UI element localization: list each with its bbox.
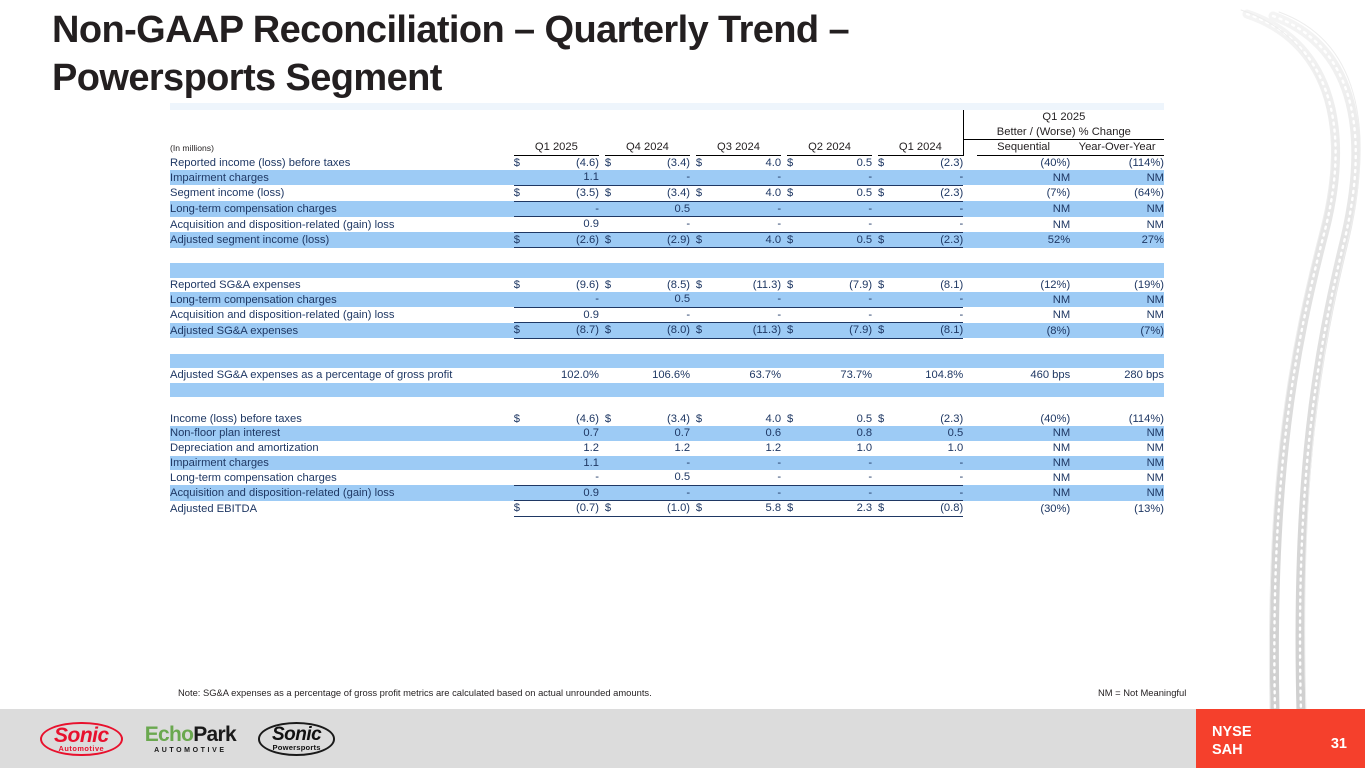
row-value: - bbox=[623, 456, 690, 471]
col-header-q1-2024: Q1 2024 bbox=[878, 140, 963, 156]
group-separator bbox=[963, 170, 977, 185]
row-value: - bbox=[805, 170, 872, 185]
currency-symbol: $ bbox=[605, 185, 623, 201]
currency-symbol bbox=[605, 456, 623, 471]
currency-symbol bbox=[787, 383, 805, 398]
row-sequential-change: NM bbox=[977, 170, 1070, 185]
sonic-powersports-logo: Sonic Powersports bbox=[258, 722, 335, 756]
row-value: - bbox=[896, 456, 963, 471]
row-value: 5.8 bbox=[714, 501, 781, 517]
group-separator bbox=[963, 470, 977, 485]
currency-symbol: $ bbox=[878, 232, 896, 248]
group-separator bbox=[963, 354, 977, 369]
change-group-title: Better / (Worse) % Change bbox=[963, 125, 1164, 140]
row-value: 1.0 bbox=[805, 441, 872, 456]
table-spacer-row bbox=[170, 248, 1164, 263]
row-value: - bbox=[714, 292, 781, 307]
row-label: Income (loss) before taxes bbox=[170, 412, 514, 427]
row-year-over-year-change: (7%) bbox=[1070, 323, 1164, 339]
row-sequential-change: (30%) bbox=[977, 501, 1070, 517]
row-label: Segment income (loss) bbox=[170, 185, 514, 201]
exchange-name: NYSE bbox=[1212, 723, 1252, 741]
table-row: Acquisition and disposition-related (gai… bbox=[170, 307, 1164, 323]
currency-symbol bbox=[696, 383, 714, 398]
currency-symbol: $ bbox=[605, 501, 623, 517]
row-value: 0.5 bbox=[805, 412, 872, 427]
row-value: (2.3) bbox=[896, 232, 963, 248]
row-value: (11.3) bbox=[714, 323, 781, 339]
page-title: Non-GAAP Reconciliation – Quarterly Tren… bbox=[52, 6, 1012, 103]
table-row: Long-term compensation charges-0.5---NMN… bbox=[170, 201, 1164, 217]
row-value bbox=[805, 248, 872, 263]
row-year-over-year-change: NM bbox=[1070, 441, 1164, 456]
row-value: (8.1) bbox=[896, 323, 963, 339]
currency-symbol: $ bbox=[878, 501, 896, 517]
row-value: (9.6) bbox=[532, 278, 599, 293]
row-value: 0.6 bbox=[714, 426, 781, 441]
currency-symbol bbox=[514, 354, 532, 369]
group-separator bbox=[963, 155, 977, 170]
row-value: (2.3) bbox=[896, 185, 963, 201]
header-top-band bbox=[170, 103, 1164, 110]
group-separator bbox=[963, 248, 977, 263]
currency-symbol bbox=[787, 456, 805, 471]
currency-symbol bbox=[514, 292, 532, 307]
currency-symbol bbox=[787, 368, 805, 383]
row-year-over-year-change: NM bbox=[1070, 170, 1164, 185]
currency-symbol: $ bbox=[696, 232, 714, 248]
currency-symbol bbox=[514, 470, 532, 485]
row-value: - bbox=[714, 307, 781, 323]
row-value: (3.4) bbox=[623, 412, 690, 427]
row-sequential-change: NM bbox=[977, 307, 1070, 323]
row-value: (7.9) bbox=[805, 278, 872, 293]
tire-tracks-decoration bbox=[1175, 0, 1365, 712]
row-label bbox=[170, 248, 514, 263]
row-value: - bbox=[805, 217, 872, 233]
currency-symbol bbox=[878, 426, 896, 441]
currency-symbol bbox=[605, 368, 623, 383]
currency-symbol bbox=[696, 441, 714, 456]
row-sequential-change: NM bbox=[977, 217, 1070, 233]
row-value bbox=[805, 397, 872, 412]
currency-symbol bbox=[605, 354, 623, 369]
table-body: Reported income (loss) before taxes$(4.6… bbox=[170, 155, 1164, 516]
currency-symbol bbox=[696, 217, 714, 233]
echopark-subtext: AUTOMOTIVE bbox=[154, 747, 227, 754]
currency-symbol bbox=[878, 263, 896, 278]
row-year-over-year-change: (114%) bbox=[1070, 155, 1164, 170]
row-year-over-year-change: (13%) bbox=[1070, 501, 1164, 517]
row-value bbox=[532, 263, 599, 278]
row-value bbox=[714, 263, 781, 278]
group-separator bbox=[963, 263, 977, 278]
currency-symbol bbox=[514, 368, 532, 383]
row-label: Adjusted SG&A expenses bbox=[170, 323, 514, 339]
row-year-over-year-change: 27% bbox=[1070, 232, 1164, 248]
currency-symbol bbox=[696, 485, 714, 501]
currency-symbol bbox=[787, 441, 805, 456]
currency-symbol: $ bbox=[787, 412, 805, 427]
row-year-over-year-change bbox=[1070, 248, 1164, 263]
currency-symbol bbox=[514, 217, 532, 233]
row-value: 0.7 bbox=[623, 426, 690, 441]
row-value bbox=[896, 248, 963, 263]
table-spacer-row bbox=[170, 338, 1164, 353]
table-row: Impairment charges1.1----NMNM bbox=[170, 170, 1164, 185]
row-value: 4.0 bbox=[714, 232, 781, 248]
currency-symbol: $ bbox=[696, 155, 714, 170]
currency-symbol: $ bbox=[696, 278, 714, 293]
table-spacer-row bbox=[170, 263, 1164, 278]
currency-symbol bbox=[605, 217, 623, 233]
row-year-over-year-change: NM bbox=[1070, 485, 1164, 501]
footnote-right: NM = Not Meaningful bbox=[1098, 687, 1186, 698]
row-sequential-change: 460 bps bbox=[977, 368, 1070, 383]
currency-symbol bbox=[514, 248, 532, 263]
row-value: (4.6) bbox=[532, 412, 599, 427]
row-sequential-change: (7%) bbox=[977, 185, 1070, 201]
row-label bbox=[170, 354, 514, 369]
row-value: 106.6% bbox=[623, 368, 690, 383]
row-sequential-change bbox=[977, 397, 1070, 412]
row-value: - bbox=[714, 201, 781, 217]
currency-symbol bbox=[605, 383, 623, 398]
currency-symbol bbox=[696, 201, 714, 217]
row-value: 0.5 bbox=[896, 426, 963, 441]
row-year-over-year-change: NM bbox=[1070, 456, 1164, 471]
units-label: (In millions) bbox=[170, 140, 514, 156]
col-header-q2-2024: Q2 2024 bbox=[787, 140, 872, 156]
currency-symbol: $ bbox=[696, 501, 714, 517]
row-value: - bbox=[896, 485, 963, 501]
group-separator bbox=[963, 201, 977, 217]
row-value: - bbox=[805, 292, 872, 307]
row-value: - bbox=[623, 170, 690, 185]
currency-symbol bbox=[605, 201, 623, 217]
table-header: Q1 2025 Better / (Worse) % Change (In mi… bbox=[170, 103, 1164, 155]
row-value: - bbox=[896, 170, 963, 185]
row-label: Acquisition and disposition-related (gai… bbox=[170, 485, 514, 501]
row-value bbox=[532, 248, 599, 263]
row-value: 0.5 bbox=[805, 232, 872, 248]
currency-symbol bbox=[605, 426, 623, 441]
currency-symbol: $ bbox=[787, 323, 805, 339]
row-value: - bbox=[714, 170, 781, 185]
row-year-over-year-change: 280 bps bbox=[1070, 368, 1164, 383]
currency-symbol bbox=[696, 248, 714, 263]
row-value: 0.9 bbox=[532, 217, 599, 233]
currency-symbol bbox=[514, 307, 532, 323]
row-label: Adjusted segment income (loss) bbox=[170, 232, 514, 248]
row-label bbox=[170, 263, 514, 278]
table-spacer-row bbox=[170, 397, 1164, 412]
group-separator bbox=[963, 278, 977, 293]
row-year-over-year-change: NM bbox=[1070, 201, 1164, 217]
echopark-automotive-logo: EchoPark AUTOMOTIVE bbox=[145, 724, 236, 754]
group-separator bbox=[963, 441, 977, 456]
table-row: Long-term compensation charges-0.5---NMN… bbox=[170, 470, 1164, 485]
row-year-over-year-change bbox=[1070, 397, 1164, 412]
currency-symbol bbox=[514, 441, 532, 456]
row-value: 63.7% bbox=[714, 368, 781, 383]
table-row: Adjusted SG&A expenses as a percentage o… bbox=[170, 368, 1164, 383]
row-year-over-year-change: (114%) bbox=[1070, 412, 1164, 427]
row-value: (2.3) bbox=[896, 155, 963, 170]
currency-symbol: $ bbox=[514, 323, 532, 339]
row-label: Adjusted EBITDA bbox=[170, 501, 514, 517]
currency-symbol: $ bbox=[605, 278, 623, 293]
row-value bbox=[532, 354, 599, 369]
change-group-period: Q1 2025 bbox=[963, 110, 1164, 125]
row-value: (11.3) bbox=[714, 278, 781, 293]
sonic-powersports-wordmark: Sonic bbox=[272, 726, 321, 744]
ticker-symbol: SAH bbox=[1212, 741, 1252, 759]
currency-symbol bbox=[514, 485, 532, 501]
row-value bbox=[623, 397, 690, 412]
row-value bbox=[805, 383, 872, 398]
row-value bbox=[623, 263, 690, 278]
currency-symbol: $ bbox=[787, 155, 805, 170]
row-value bbox=[896, 263, 963, 278]
currency-symbol: $ bbox=[878, 278, 896, 293]
row-value: - bbox=[896, 292, 963, 307]
row-label: Reported income (loss) before taxes bbox=[170, 155, 514, 170]
row-value: 0.5 bbox=[623, 470, 690, 485]
currency-symbol bbox=[605, 307, 623, 323]
table-row: Depreciation and amortization1.21.21.21.… bbox=[170, 441, 1164, 456]
row-year-over-year-change: NM bbox=[1070, 307, 1164, 323]
echopark-word-park: Park bbox=[193, 723, 236, 746]
table-row: Non-floor plan interest0.70.70.60.80.5NM… bbox=[170, 426, 1164, 441]
currency-symbol bbox=[514, 426, 532, 441]
currency-symbol bbox=[696, 263, 714, 278]
currency-symbol: $ bbox=[878, 185, 896, 201]
row-value: (0.8) bbox=[896, 501, 963, 517]
group-separator bbox=[963, 397, 977, 412]
currency-symbol: $ bbox=[605, 323, 623, 339]
row-sequential-change: NM bbox=[977, 456, 1070, 471]
row-year-over-year-change: (19%) bbox=[1070, 278, 1164, 293]
group-separator bbox=[963, 412, 977, 427]
row-value: 1.2 bbox=[532, 441, 599, 456]
currency-symbol: $ bbox=[787, 278, 805, 293]
row-sequential-change: NM bbox=[977, 470, 1070, 485]
row-value bbox=[532, 338, 599, 353]
table-spacer-row bbox=[170, 383, 1164, 398]
currency-symbol bbox=[787, 397, 805, 412]
row-value bbox=[623, 354, 690, 369]
nyse-ticker-text: NYSE SAH bbox=[1212, 723, 1252, 759]
row-value bbox=[714, 248, 781, 263]
row-value: 0.8 bbox=[805, 426, 872, 441]
currency-symbol bbox=[787, 307, 805, 323]
row-value: - bbox=[623, 485, 690, 501]
row-value: - bbox=[896, 470, 963, 485]
currency-symbol bbox=[787, 470, 805, 485]
row-value: (0.7) bbox=[532, 501, 599, 517]
currency-symbol: $ bbox=[605, 412, 623, 427]
currency-symbol bbox=[696, 397, 714, 412]
row-value: (8.7) bbox=[532, 323, 599, 339]
currency-symbol bbox=[878, 470, 896, 485]
row-value: (2.9) bbox=[623, 232, 690, 248]
currency-symbol bbox=[605, 470, 623, 485]
row-label: Impairment charges bbox=[170, 170, 514, 185]
row-value: - bbox=[714, 217, 781, 233]
row-value bbox=[805, 354, 872, 369]
row-value: - bbox=[532, 470, 599, 485]
table-spacer-row bbox=[170, 354, 1164, 369]
currency-symbol bbox=[878, 456, 896, 471]
currency-symbol bbox=[514, 201, 532, 217]
currency-symbol bbox=[605, 248, 623, 263]
currency-symbol: $ bbox=[787, 185, 805, 201]
currency-symbol: $ bbox=[605, 232, 623, 248]
row-label: Long-term compensation charges bbox=[170, 201, 514, 217]
row-year-over-year-change: (64%) bbox=[1070, 185, 1164, 201]
table-row: Segment income (loss)$(3.5)$(3.4)$4.0$0.… bbox=[170, 185, 1164, 201]
row-year-over-year-change: NM bbox=[1070, 426, 1164, 441]
row-sequential-change: NM bbox=[977, 485, 1070, 501]
row-sequential-change: 52% bbox=[977, 232, 1070, 248]
row-value bbox=[896, 383, 963, 398]
currency-symbol bbox=[787, 292, 805, 307]
row-value: 0.5 bbox=[805, 185, 872, 201]
row-value: 1.2 bbox=[623, 441, 690, 456]
nyse-ticker-badge: NYSE SAH 31 bbox=[1196, 709, 1365, 768]
row-value: - bbox=[805, 201, 872, 217]
row-value: 0.9 bbox=[532, 307, 599, 323]
row-year-over-year-change: NM bbox=[1070, 217, 1164, 233]
row-value bbox=[805, 338, 872, 353]
row-sequential-change bbox=[977, 383, 1070, 398]
row-label: Acquisition and disposition-related (gai… bbox=[170, 217, 514, 233]
header-group-title-row: Better / (Worse) % Change bbox=[170, 125, 1164, 140]
row-value: 1.1 bbox=[532, 456, 599, 471]
row-value bbox=[532, 383, 599, 398]
row-label: Long-term compensation charges bbox=[170, 470, 514, 485]
table-row: Acquisition and disposition-related (gai… bbox=[170, 485, 1164, 501]
currency-symbol bbox=[605, 485, 623, 501]
currency-symbol bbox=[787, 426, 805, 441]
currency-symbol bbox=[878, 383, 896, 398]
currency-symbol bbox=[878, 368, 896, 383]
group-separator bbox=[963, 185, 977, 201]
row-year-over-year-change bbox=[1070, 383, 1164, 398]
row-label: Long-term compensation charges bbox=[170, 292, 514, 307]
currency-symbol bbox=[514, 456, 532, 471]
row-value: 73.7% bbox=[805, 368, 872, 383]
header-group-period-row: Q1 2025 bbox=[170, 110, 1164, 125]
row-year-over-year-change bbox=[1070, 263, 1164, 278]
row-value: (8.0) bbox=[623, 323, 690, 339]
currency-symbol bbox=[696, 354, 714, 369]
row-label bbox=[170, 338, 514, 353]
currency-symbol: $ bbox=[878, 155, 896, 170]
row-value: - bbox=[714, 485, 781, 501]
group-separator bbox=[963, 307, 977, 323]
row-sequential-change: (40%) bbox=[977, 412, 1070, 427]
row-sequential-change: (8%) bbox=[977, 323, 1070, 339]
currency-symbol bbox=[787, 217, 805, 233]
row-value bbox=[896, 338, 963, 353]
currency-symbol: $ bbox=[514, 412, 532, 427]
currency-symbol: $ bbox=[605, 155, 623, 170]
col-header-sequential: Sequential bbox=[977, 140, 1070, 156]
currency-symbol bbox=[878, 441, 896, 456]
row-sequential-change bbox=[977, 263, 1070, 278]
row-year-over-year-change: NM bbox=[1070, 470, 1164, 485]
currency-symbol bbox=[696, 170, 714, 185]
row-value: - bbox=[805, 307, 872, 323]
row-value: 4.0 bbox=[714, 155, 781, 170]
table-row: Acquisition and disposition-related (gai… bbox=[170, 217, 1164, 233]
row-value bbox=[532, 397, 599, 412]
currency-symbol: $ bbox=[787, 232, 805, 248]
row-value: (3.4) bbox=[623, 155, 690, 170]
currency-symbol bbox=[878, 292, 896, 307]
col-header-q1-2025: Q1 2025 bbox=[514, 140, 599, 156]
header-column-row: (In millions) Q1 2025 Q4 2024 Q3 2024 Q2… bbox=[170, 140, 1164, 156]
row-value: (8.1) bbox=[896, 278, 963, 293]
col-header-year-over-year: Year-Over-Year bbox=[1070, 140, 1164, 156]
row-value: (1.0) bbox=[623, 501, 690, 517]
row-value bbox=[714, 354, 781, 369]
row-value bbox=[805, 263, 872, 278]
currency-symbol bbox=[696, 470, 714, 485]
col-header-q3-2024: Q3 2024 bbox=[696, 140, 781, 156]
row-value: (2.3) bbox=[896, 412, 963, 427]
currency-symbol bbox=[605, 441, 623, 456]
table-row: Long-term compensation charges-0.5---NMN… bbox=[170, 292, 1164, 307]
currency-symbol bbox=[787, 338, 805, 353]
currency-symbol bbox=[878, 397, 896, 412]
row-value: - bbox=[532, 292, 599, 307]
row-value: 0.5 bbox=[623, 201, 690, 217]
currency-symbol: $ bbox=[514, 278, 532, 293]
currency-symbol bbox=[878, 170, 896, 185]
row-sequential-change: NM bbox=[977, 292, 1070, 307]
currency-symbol bbox=[878, 201, 896, 217]
currency-symbol bbox=[787, 201, 805, 217]
row-label: Reported SG&A expenses bbox=[170, 278, 514, 293]
row-sequential-change bbox=[977, 354, 1070, 369]
row-label: Impairment charges bbox=[170, 456, 514, 471]
row-label bbox=[170, 383, 514, 398]
currency-symbol bbox=[878, 217, 896, 233]
row-value: - bbox=[714, 470, 781, 485]
row-value: - bbox=[714, 456, 781, 471]
sonic-powersports-subtext: Powersports bbox=[273, 744, 321, 752]
row-value: 104.8% bbox=[896, 368, 963, 383]
row-value bbox=[623, 248, 690, 263]
table-row: Adjusted SG&A expenses$(8.7)$(8.0)$(11.3… bbox=[170, 323, 1164, 339]
row-value: (7.9) bbox=[805, 323, 872, 339]
currency-symbol bbox=[787, 248, 805, 263]
currency-symbol bbox=[787, 354, 805, 369]
row-value bbox=[714, 338, 781, 353]
row-value: 0.9 bbox=[532, 485, 599, 501]
row-sequential-change: NM bbox=[977, 201, 1070, 217]
currency-symbol bbox=[878, 338, 896, 353]
row-value: 0.7 bbox=[532, 426, 599, 441]
row-value: 2.3 bbox=[805, 501, 872, 517]
currency-symbol bbox=[787, 263, 805, 278]
currency-symbol bbox=[878, 248, 896, 263]
currency-symbol: $ bbox=[878, 323, 896, 339]
row-year-over-year-change bbox=[1070, 354, 1164, 369]
